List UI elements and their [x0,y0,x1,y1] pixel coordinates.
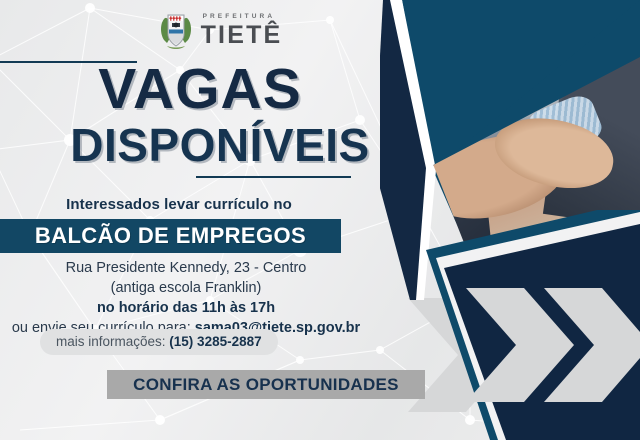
poster-content: PREFEITURA TIETÊ VAGAS DISPONÍVEIS Inter… [0,0,440,440]
phone-number[interactable]: (15) 3285-2887 [169,334,261,349]
address-block: Rua Presidente Kennedy, 23 - Centro (ant… [0,258,372,338]
accent-rule-bottom [196,176,351,178]
headline-line-1: VAGAS [0,62,400,118]
opening-hours: no horário das 11h às 17h [0,298,372,318]
subtitle: Interessados levar currículo no [0,196,358,213]
job-vacancy-poster: PREFEITURA TIETÊ VAGAS DISPONÍVEIS Inter… [0,0,640,440]
more-info-pill: mais informações: (15) 3285-2887 [40,329,278,355]
prefeitura-logo: PREFEITURA TIETÊ [0,8,440,54]
balcao-banner: BALCÃO DE EMPREGOS [0,219,341,253]
logo-prefix: PREFEITURA [201,14,283,21]
logo-name: TIETÊ [201,23,283,48]
address-line-1: Rua Presidente Kennedy, 23 - Centro [0,258,372,278]
more-info-label: mais informações: [56,334,169,349]
balcao-banner-label: BALCÃO DE EMPREGOS [35,223,306,249]
headline-line-2: DISPONÍVEIS [0,122,440,168]
confira-oportunidades-button[interactable]: CONFIRA AS OPORTUNIDADES [107,370,425,399]
coat-of-arms-icon [158,10,194,52]
address-line-2: (antiga escola Franklin) [0,278,372,298]
cta-label: CONFIRA AS OPORTUNIDADES [133,375,399,395]
